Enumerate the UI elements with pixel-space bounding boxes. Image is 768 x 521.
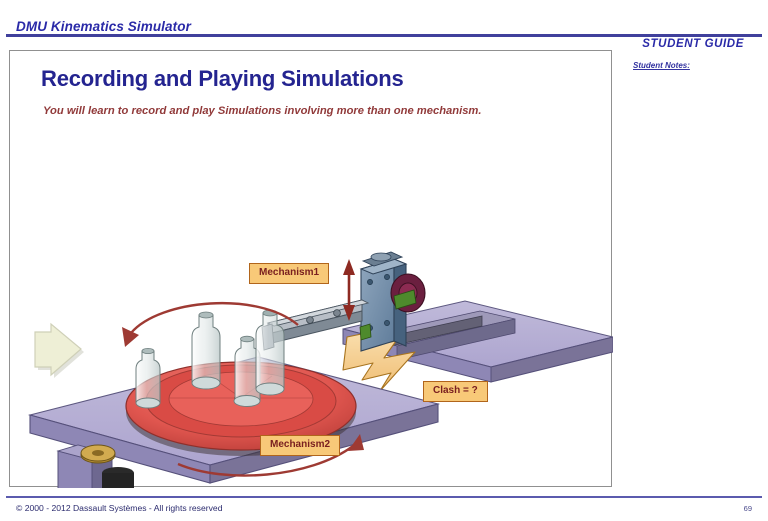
footer-divider [6, 496, 762, 498]
slide-content-frame: Recording and Playing Simulations You wi… [9, 50, 612, 487]
callout-mechanism1[interactable]: Mechanism1 [249, 263, 329, 284]
callout-clash[interactable]: Clash = ? [423, 381, 488, 402]
footer-copyright: © 2000 - 2012 Dassault Systèmes - All ri… [16, 503, 222, 513]
student-guide-divider [626, 35, 746, 37]
app-header-title: DMU Kinematics Simulator [16, 19, 191, 34]
student-notes-label: Student Notes: [633, 61, 690, 70]
bottle [192, 312, 220, 389]
callout-mechanism2[interactable]: Mechanism2 [260, 435, 340, 456]
page-title: Recording and Playing Simulations [41, 66, 404, 92]
page-number: 69 [744, 504, 752, 513]
page-subtitle: You will learn to record and play Simula… [43, 105, 481, 117]
bottle [136, 348, 160, 408]
student-guide-label: STUDENT GUIDE [642, 38, 744, 50]
